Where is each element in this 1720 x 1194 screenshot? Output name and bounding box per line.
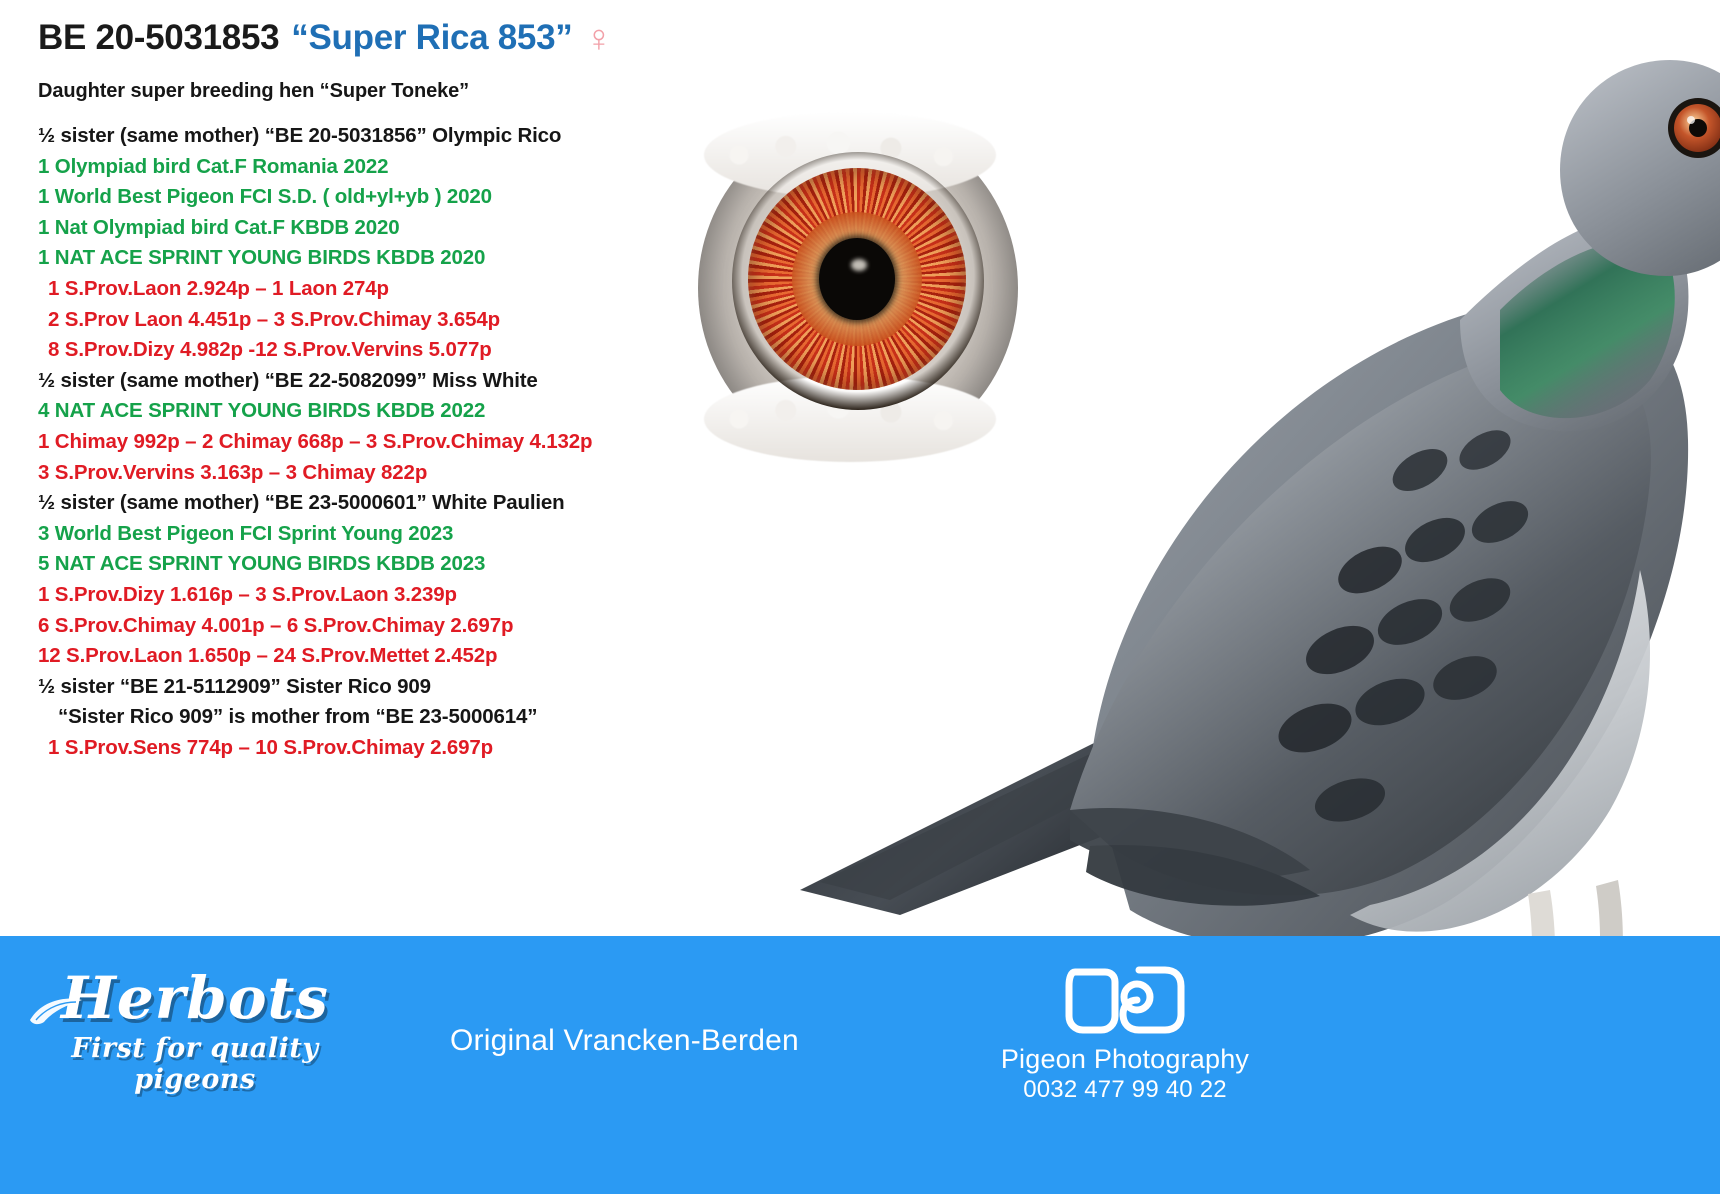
photographer-phone: 0032 477 99 40 22 [960, 1076, 1290, 1104]
subtitle: Daughter super breeding hen “Super Tonek… [38, 80, 738, 103]
pedigree-line: “Sister Rico 909” is mother from “BE 23-… [38, 702, 738, 733]
pedigree-line: 1 NAT ACE SPRINT YOUNG BIRDS KBDB 2020 [38, 243, 738, 274]
pedigree-line: 5 NAT ACE SPRINT YOUNG BIRDS KBDB 2023 [38, 549, 738, 580]
pedigree-line: 3 World Best Pigeon FCI Sprint Young 202… [38, 519, 738, 550]
pedigree-line: 12 S.Prov.Laon 1.650p – 24 S.Prov.Mettet… [38, 641, 738, 672]
strain-credit: Original Vrancken-Berden [450, 1024, 799, 1058]
pedigree-line: ½ sister (same mother) “BE 23-5000601” W… [38, 488, 738, 519]
pedigree-line: 1 Olympiad bird Cat.F Romania 2022 [38, 152, 738, 183]
pedigree-line: 1 S.Prov.Dizy 1.616p – 3 S.Prov.Laon 3.2… [38, 580, 738, 611]
pedigree-line: ½ sister (same mother) “BE 22-5082099” M… [38, 366, 738, 397]
eye-pupil [819, 238, 895, 320]
pigeon-neck [1460, 216, 1688, 431]
pedigree-line-list: ½ sister (same mother) “BE 20-5031856” O… [38, 121, 738, 763]
pedigree-line: ½ sister (same mother) “BE 20-5031856” O… [38, 121, 738, 152]
pigeon-wing [1070, 347, 1651, 896]
pigeon-body [1090, 298, 1688, 947]
eye-iris [748, 168, 966, 390]
herbots-logo: Herbots First for quality pigeons [30, 968, 360, 1095]
bottom-banner: Herbots First for quality pigeons Origin… [0, 936, 1720, 1194]
pedigree-line: 1 S.Prov.Sens 774p – 10 S.Prov.Chimay 2.… [38, 733, 738, 764]
pigeon-eye-pupil [1689, 119, 1707, 137]
pedigree-line: 6 S.Prov.Chimay 4.001p – 6 S.Prov.Chimay… [38, 611, 738, 642]
eye-closeup-photo [690, 108, 1030, 468]
pigeon-name: “Super Rica 853” [291, 18, 572, 58]
feather-icon [26, 994, 86, 1028]
pedigree-line: 1 Nat Olympiad bird Cat.F KBDB 2020 [38, 213, 738, 244]
wing-feather-pattern [1272, 422, 1535, 829]
pigeon-eye-outer [1668, 98, 1720, 158]
photographer-credit: Pigeon Photography 0032 477 99 40 22 [960, 950, 1290, 1104]
page-title: BE 20-5031853 “Super Rica 853” ♀ [38, 18, 738, 58]
pedigree-line: 8 S.Prov.Dizy 4.982p -12 S.Prov.Vervins … [38, 335, 738, 366]
pedigree-line: ½ sister “BE 21-5112909” Sister Rico 909 [38, 672, 738, 703]
female-sex-icon: ♀ [584, 22, 613, 56]
ring-number: BE 20-5031853 [38, 18, 279, 58]
eye-glint [851, 259, 867, 271]
pigeon-eye-iris [1674, 104, 1720, 152]
pigeon-head [1560, 60, 1720, 276]
pedigree-text-panel: BE 20-5031853 “Super Rica 853” ♀ Daughte… [38, 18, 738, 763]
pigeon-tail [800, 710, 1230, 915]
herbots-tagline: First for quality pigeons [30, 1033, 360, 1095]
pedigree-line: 2 S.Prov Laon 4.451p – 3 S.Prov.Chimay 3… [38, 305, 738, 336]
pedigree-line: 4 NAT ACE SPRINT YOUNG BIRDS KBDB 2022 [38, 396, 738, 427]
pedigree-line: 3 S.Prov.Vervins 3.163p – 3 Chimay 822p [38, 458, 738, 489]
pedigree-line: 1 Chimay 992p – 2 Chimay 668p – 3 S.Prov… [38, 427, 738, 458]
pedigree-line: 1 World Best Pigeon FCI S.D. ( old+yl+yb… [38, 182, 738, 213]
photographer-name: Pigeon Photography [960, 1044, 1290, 1075]
camera-logo-icon [1061, 950, 1189, 1042]
pedigree-line: 1 S.Prov.Laon 2.924p – 1 Laon 274p [38, 274, 738, 305]
